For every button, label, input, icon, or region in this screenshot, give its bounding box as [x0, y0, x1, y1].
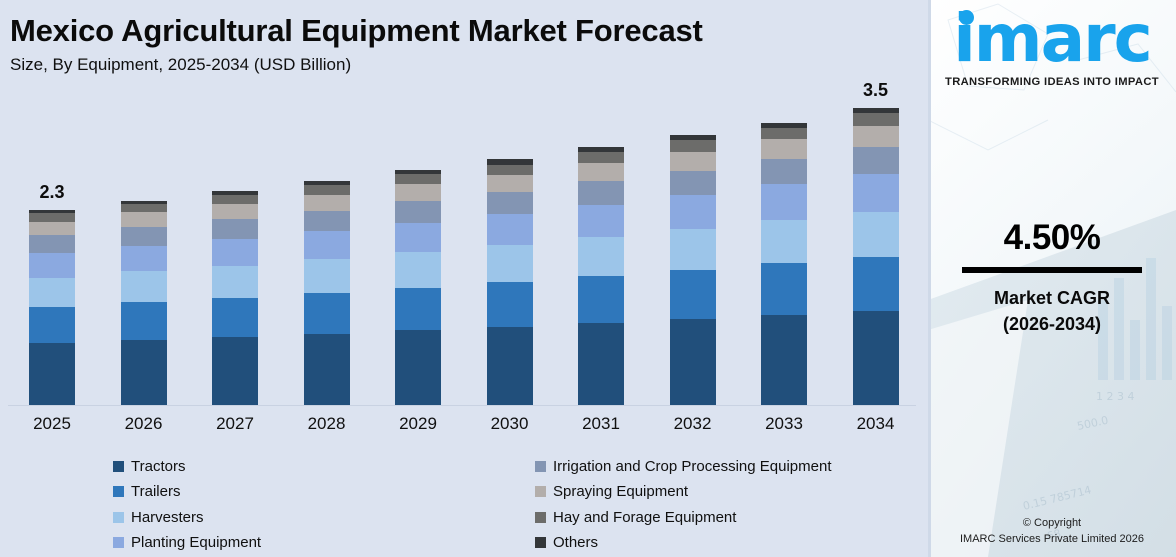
cagr-value: 4.50%	[928, 218, 1176, 258]
legend-label: Trailers	[131, 483, 180, 500]
bar-segment	[853, 126, 899, 147]
bar-column	[304, 181, 350, 405]
bar-segment	[670, 171, 716, 196]
bar-segment	[121, 227, 167, 246]
bar-segment	[395, 288, 441, 330]
legend-swatch-icon	[113, 537, 124, 548]
bar-segment	[761, 184, 807, 220]
bar-segment	[670, 195, 716, 229]
bar-column	[761, 123, 807, 406]
bar-segment	[853, 212, 899, 257]
bar-segment	[212, 195, 258, 204]
legend-swatch-icon	[535, 461, 546, 472]
x-axis-tick-2032: 2032	[653, 414, 733, 434]
bar-segment	[29, 213, 75, 221]
legend-swatch-icon	[535, 512, 546, 523]
bar-segment	[304, 195, 350, 211]
logo-text: imarc	[953, 0, 1151, 77]
infographic-root: Mexico Agricultural Equipment Market For…	[0, 0, 1176, 557]
bar-column: 2.3	[29, 210, 75, 405]
bar-column	[578, 147, 624, 405]
bar-segment	[761, 139, 807, 159]
svg-text:1 2 3 4: 1 2 3 4	[1096, 390, 1134, 403]
bar-segment	[212, 219, 258, 239]
bar-segment	[121, 271, 167, 302]
legend-label: Spraying Equipment	[553, 483, 688, 500]
bar-segment	[212, 298, 258, 337]
legend-item[interactable]: Planting Equipment	[113, 533, 261, 553]
bar-value-label: 2.3	[39, 182, 64, 203]
bar-segment	[121, 302, 167, 339]
bar-segment	[487, 175, 533, 192]
bar-segment	[578, 276, 624, 323]
legend-swatch-icon	[113, 486, 124, 497]
bar-segment	[212, 204, 258, 219]
x-axis-tick-2033: 2033	[744, 414, 824, 434]
bar-segment	[578, 323, 624, 405]
legend-label: Tractors	[131, 458, 185, 475]
legend-item[interactable]: Harvesters	[113, 507, 204, 527]
legend-label: Hay and Forage Equipment	[553, 509, 736, 526]
bar-segment	[395, 184, 441, 201]
copyright-block: © Copyright IMARC Services Private Limit…	[928, 516, 1176, 548]
bar-segment	[761, 159, 807, 184]
bar-segment	[853, 257, 899, 311]
page-title: Mexico Agricultural Equipment Market For…	[10, 14, 910, 48]
legend-label: Planting Equipment	[131, 534, 261, 551]
chart-subtitle: Size, By Equipment, 2025-2034 (USD Billi…	[10, 55, 910, 75]
bar-segment	[670, 229, 716, 270]
bar-segment	[487, 165, 533, 175]
x-axis-tick-2027: 2027	[195, 414, 275, 434]
imarc-logo-wordmark: imarc	[953, 8, 1151, 70]
cagr-block: 4.50% Market CAGR (2026-2034)	[928, 218, 1176, 337]
bar-segment	[212, 337, 258, 405]
bar-segment	[121, 204, 167, 212]
bar-segment	[761, 263, 807, 315]
bar-segment	[29, 343, 75, 405]
bar-segment	[395, 330, 441, 405]
bar-segment	[761, 128, 807, 140]
bar-segment	[121, 340, 167, 405]
bar-segment	[304, 334, 350, 405]
bar-segment	[395, 174, 441, 184]
x-axis-tick-2028: 2028	[287, 414, 367, 434]
bar-segment	[29, 278, 75, 308]
bar-segment	[487, 214, 533, 245]
brand-logo: imarc TRANSFORMING IDEAS INTO IMPACT	[928, 8, 1176, 88]
bar-segment	[304, 185, 350, 194]
x-axis-line	[8, 405, 916, 406]
bar-column	[121, 201, 167, 405]
legend-item[interactable]: Spraying Equipment	[535, 482, 688, 502]
legend-label: Irrigation and Crop Processing Equipment	[553, 458, 831, 475]
cagr-label: Market CAGR	[928, 285, 1176, 311]
bar-segment	[578, 181, 624, 205]
bar-segment	[304, 259, 350, 293]
bar-column: 3.5	[853, 108, 899, 405]
bar-segment	[121, 212, 167, 226]
bar-segment	[670, 152, 716, 171]
title-block: Mexico Agricultural Equipment Market For…	[10, 14, 910, 75]
bar-segment	[29, 307, 75, 343]
chart-panel: Mexico Agricultural Equipment Market For…	[0, 0, 928, 557]
bar-segment	[304, 293, 350, 334]
x-axis-tick-2026: 2026	[104, 414, 184, 434]
bar-segment	[853, 174, 899, 211]
bar-column	[487, 159, 533, 405]
bar-segment	[304, 211, 350, 231]
legend-item[interactable]: Tractors	[113, 456, 185, 476]
copyright-line-2: IMARC Services Private Limited 2026	[928, 532, 1176, 548]
legend-swatch-icon	[535, 486, 546, 497]
bar-segment	[121, 246, 167, 271]
legend-item[interactable]: Hay and Forage Equipment	[535, 507, 736, 527]
bar-segment	[670, 270, 716, 319]
bar-segment	[29, 235, 75, 253]
bar-value-label: 3.5	[863, 80, 888, 101]
bar-segment	[853, 311, 899, 405]
bar-segment	[578, 237, 624, 276]
legend-item[interactable]: Others	[535, 533, 598, 553]
bar-segment	[212, 266, 258, 298]
bar-segment	[29, 253, 75, 278]
x-axis-tick-2031: 2031	[561, 414, 641, 434]
bar-column	[395, 170, 441, 405]
bar-segment	[761, 220, 807, 263]
bar-segment	[578, 205, 624, 237]
bar-segment	[487, 245, 533, 282]
cagr-divider	[962, 267, 1142, 273]
bar-segment	[395, 252, 441, 288]
legend-label: Harvesters	[131, 509, 204, 526]
bar-segment	[487, 192, 533, 214]
legend-swatch-icon	[535, 537, 546, 548]
bar-column	[212, 191, 258, 405]
bar-segment	[304, 231, 350, 259]
bar-segment	[487, 327, 533, 405]
brand-panel: 1 2 3 4 500.0 0.15 785714 68 imarc TRANS…	[928, 0, 1176, 557]
chart-legend: TractorsTrailersHarvestersPlanting Equip…	[113, 456, 903, 556]
legend-swatch-icon	[113, 461, 124, 472]
x-axis-tick-2030: 2030	[470, 414, 550, 434]
bar-segment	[395, 223, 441, 253]
bar-segment	[487, 282, 533, 327]
bar-segment	[670, 140, 716, 152]
x-axis-tick-2034: 2034	[836, 414, 916, 434]
legend-item[interactable]: Trailers	[113, 482, 180, 502]
bar-segment	[853, 113, 899, 126]
brand-tagline: TRANSFORMING IDEAS INTO IMPACT	[928, 76, 1176, 88]
legend-swatch-icon	[113, 512, 124, 523]
plot-area: 2.33.5	[0, 100, 928, 406]
bar-segment	[29, 222, 75, 236]
bar-segment	[670, 319, 716, 405]
bar-segment	[761, 315, 807, 405]
legend-item[interactable]: Irrigation and Crop Processing Equipment	[535, 456, 831, 476]
cagr-period: (2026-2034)	[928, 311, 1176, 337]
legend-label: Others	[553, 534, 598, 551]
bar-segment	[853, 147, 899, 174]
copyright-line-1: © Copyright	[928, 516, 1176, 532]
x-axis-labels: 2025202620272028202920302031203220332034	[0, 414, 928, 440]
x-axis-tick-2029: 2029	[378, 414, 458, 434]
bar-segment	[578, 152, 624, 163]
bar-segment	[212, 239, 258, 266]
bar-segment	[578, 163, 624, 181]
bar-segment	[395, 201, 441, 222]
x-axis-tick-2025: 2025	[12, 414, 92, 434]
bar-column	[670, 135, 716, 405]
